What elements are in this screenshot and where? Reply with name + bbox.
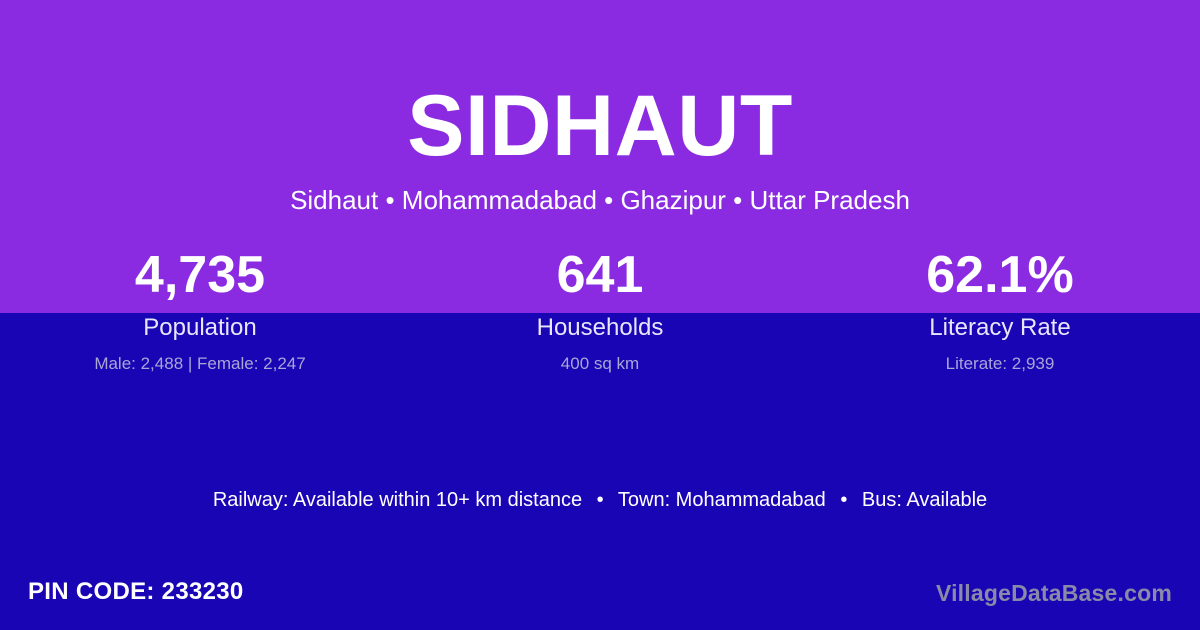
amenity-railway: Railway: Available within 10+ km distanc… bbox=[213, 489, 582, 511]
stat-sub-households: 400 sq km bbox=[400, 353, 800, 374]
amenity-bus: Bus: Available bbox=[862, 489, 987, 511]
stat-label-households: Households bbox=[400, 314, 800, 342]
stat-sub-population: Male: 2,488 | Female: 2,247 bbox=[0, 353, 400, 374]
village-info-card: SIDHAUT Sidhaut • Mohammadabad • Ghazipu… bbox=[0, 0, 1200, 630]
stat-label-literacy-rate: Literacy Rate bbox=[800, 314, 1200, 342]
page-title: SIDHAUT bbox=[0, 78, 1200, 174]
amenity-town: Town: Mohammadabad bbox=[618, 489, 826, 511]
stat-population: 4,735 Population Male: 2,488 | Female: 2… bbox=[0, 246, 400, 374]
stat-households: 641 Households 400 sq km bbox=[400, 246, 800, 374]
amenities-line: Railway: Available within 10+ km distanc… bbox=[0, 486, 1200, 514]
stat-literacy-rate: 62.1% Literacy Rate Literate: 2,939 bbox=[800, 246, 1200, 374]
site-brand: VillageDataBase.com bbox=[936, 578, 1172, 608]
pin-code: PIN CODE: 233230 bbox=[28, 577, 244, 607]
stat-value-literacy-rate: 62.1% bbox=[800, 246, 1200, 304]
amenity-separator-2: • bbox=[831, 486, 856, 514]
stat-value-population: 4,735 bbox=[0, 246, 400, 304]
amenity-separator-1: • bbox=[588, 486, 613, 514]
breadcrumb: Sidhaut • Mohammadabad • Ghazipur • Utta… bbox=[0, 182, 1200, 218]
stat-label-population: Population bbox=[0, 314, 400, 342]
stat-value-households: 641 bbox=[400, 246, 800, 304]
stat-sub-literacy-rate: Literate: 2,939 bbox=[800, 353, 1200, 374]
stats-row: 4,735 Population Male: 2,488 | Female: 2… bbox=[0, 246, 1200, 374]
